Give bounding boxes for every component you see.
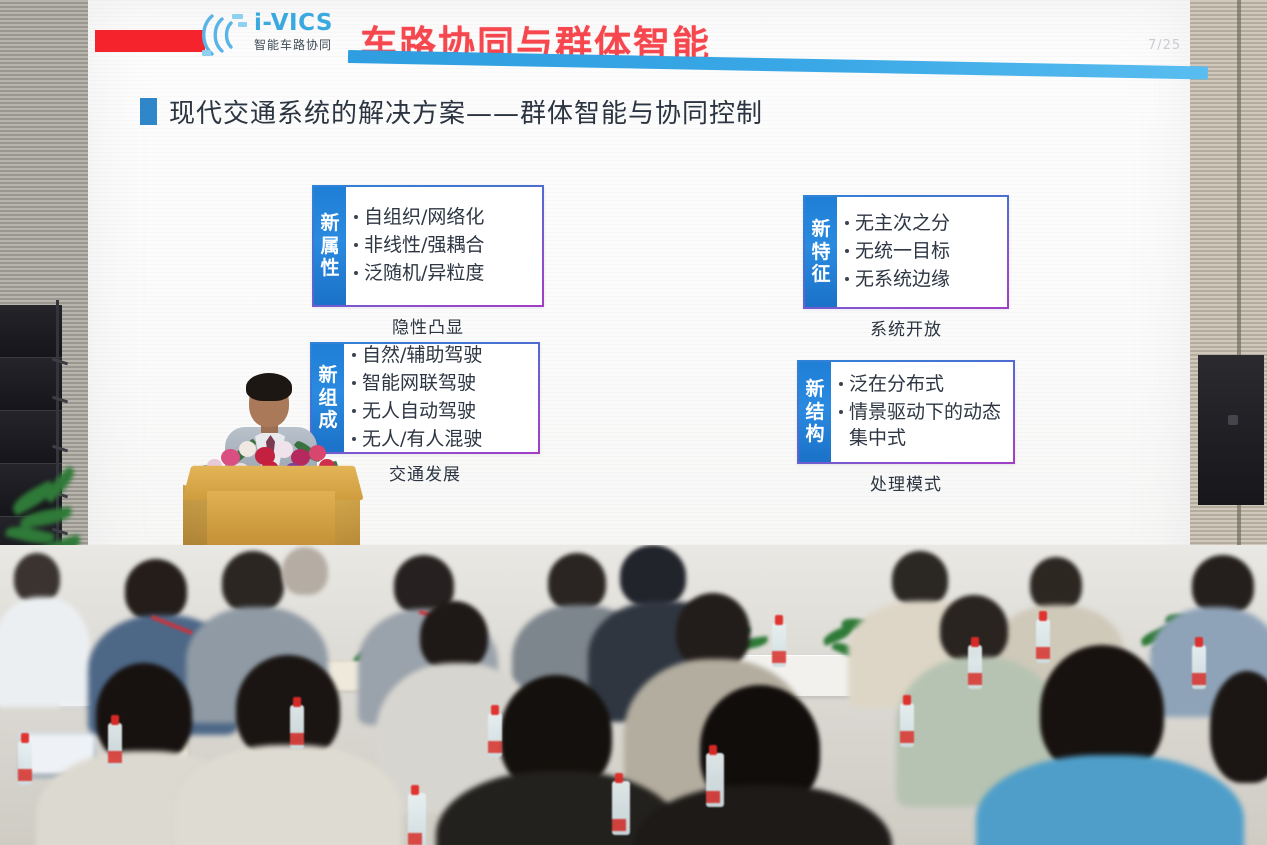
list-item: 非线性/强耦合 — [354, 233, 530, 259]
water-bottle — [900, 703, 914, 747]
bullet-dot-icon — [354, 243, 358, 247]
list-item: 情景驱动下的动态集中式 — [839, 400, 1001, 452]
box-caption: 系统开放 — [803, 315, 1009, 340]
water-bottle — [968, 645, 982, 689]
tab-char: 特 — [811, 241, 830, 263]
water-bottle — [290, 705, 304, 749]
water-bottle — [18, 741, 32, 785]
audience-head — [125, 559, 187, 621]
list-item: 无系统边缘 — [845, 267, 995, 293]
bullet-dot-icon — [354, 271, 358, 275]
bullet-dot-icon — [845, 277, 849, 281]
list-item-label: 自组织/网络化 — [364, 205, 484, 231]
water-bottle — [612, 781, 630, 835]
list-item: 自组织/网络化 — [354, 205, 530, 231]
box-tab-new-structure: 新 结 构 — [799, 362, 831, 462]
list-item-label: 泛在分布式 — [849, 372, 944, 398]
list-item-label: 无人/有人混驶 — [362, 427, 482, 453]
tab-char: 构 — [805, 423, 824, 445]
presenter-hair — [246, 373, 292, 401]
presenter-and-podium — [175, 355, 375, 560]
bullet-dot-icon — [839, 382, 843, 386]
wall-post — [1237, 0, 1241, 640]
water-bottle — [1036, 619, 1050, 663]
page-number: 7/25 — [1148, 38, 1181, 53]
list-item: 无统一目标 — [845, 239, 995, 265]
tab-char: 性 — [320, 257, 339, 279]
tab-char: 属 — [320, 235, 339, 257]
audience-head — [892, 551, 948, 607]
ivics-logo: i-VICS 智能车路协同 — [198, 8, 348, 66]
list-item-label: 情景驱动下的动态集中式 — [849, 400, 1001, 452]
audience-foreground: 列席人 参会代表 — [0, 545, 1267, 845]
list-item-label: 非线性/强耦合 — [364, 233, 484, 259]
slide-subtitle-row: 现代交通系统的解决方案——群体智能与协同控制 — [140, 93, 763, 130]
audience-head — [222, 551, 284, 613]
water-bottle — [488, 713, 502, 757]
list-item: 泛随机/异粒度 — [354, 261, 530, 287]
header-red-bar — [95, 30, 205, 52]
content-box-new-features: 新 特 征 无主次之分 无统一目标 无系统边缘 系统开放 — [803, 195, 1009, 340]
bullet-dot-icon — [845, 221, 849, 225]
list-item: 智能网联驾驶 — [352, 371, 526, 397]
content-box-new-structure: 新 结 构 泛在分布式 情景驱动下的动态集中式 处理模式 — [797, 360, 1015, 495]
audience-head — [1030, 557, 1082, 611]
wall-speaker-right — [1198, 355, 1264, 505]
list-item-label: 无主次之分 — [855, 211, 950, 237]
tab-char: 新 — [805, 378, 824, 400]
list-item: 无人自动驾驶 — [352, 399, 526, 425]
striped-wall-right — [1190, 0, 1267, 640]
water-bottle — [1192, 645, 1206, 689]
list-item: 泛在分布式 — [839, 372, 1001, 398]
logo-en-text: i-VICS — [254, 10, 350, 36]
bullet-dot-icon — [354, 215, 358, 219]
audience-head — [676, 593, 750, 669]
slide-subtitle: 现代交通系统的解决方案——群体智能与协同控制 — [169, 93, 763, 130]
audience-head — [548, 553, 606, 611]
audience-head — [1192, 555, 1254, 615]
box-tab-new-features: 新 特 征 — [805, 197, 837, 307]
box-caption: 处理模式 — [797, 470, 1015, 495]
audience-head — [282, 547, 328, 595]
audience-head — [14, 553, 60, 603]
list-item-label: 自然/辅助驾驶 — [362, 343, 482, 369]
bullet-dot-icon — [839, 410, 843, 414]
list-item-label: 无人自动驾驶 — [362, 399, 476, 425]
tab-char: 结 — [805, 401, 824, 423]
list-item-label: 无系统边缘 — [855, 267, 950, 293]
list-item: 无人/有人混驶 — [352, 427, 526, 453]
water-bottle — [706, 753, 724, 807]
list-item: 自然/辅助驾驶 — [352, 343, 526, 369]
ivics-wave-logo-icon — [198, 10, 250, 60]
audience-torso — [176, 745, 402, 845]
logo-cn-text: 智能车路协同 — [254, 37, 350, 53]
box-caption: 隐性凸显 — [312, 313, 544, 338]
list-item-label: 智能网联驾驶 — [362, 371, 476, 397]
box-tab-new-attributes: 新 属 性 — [314, 187, 346, 305]
audience-head-with-cap — [620, 545, 686, 607]
tab-char: 征 — [811, 263, 830, 285]
content-box-new-attributes: 新 属 性 自组织/网络化 非线性/强耦合 泛随机/异粒度 隐性凸显 — [312, 185, 544, 338]
bullet-dot-icon — [845, 249, 849, 253]
list-item: 无主次之分 — [845, 211, 995, 237]
conference-photo-scene: i-VICS 智能车路协同 车路协同与群体智能 7/25 现代交通系统的解决方案… — [0, 0, 1267, 845]
tab-char: 新 — [320, 212, 339, 234]
subtitle-square-marker — [140, 98, 157, 125]
list-item-label: 无统一目标 — [855, 239, 950, 265]
water-bottle — [408, 793, 426, 845]
water-bottle — [772, 623, 786, 667]
audience-torso — [0, 597, 90, 707]
list-item-label: 泛随机/异粒度 — [364, 261, 484, 287]
tab-char: 新 — [811, 218, 830, 240]
audience-head — [420, 601, 488, 671]
water-bottle — [108, 723, 122, 767]
